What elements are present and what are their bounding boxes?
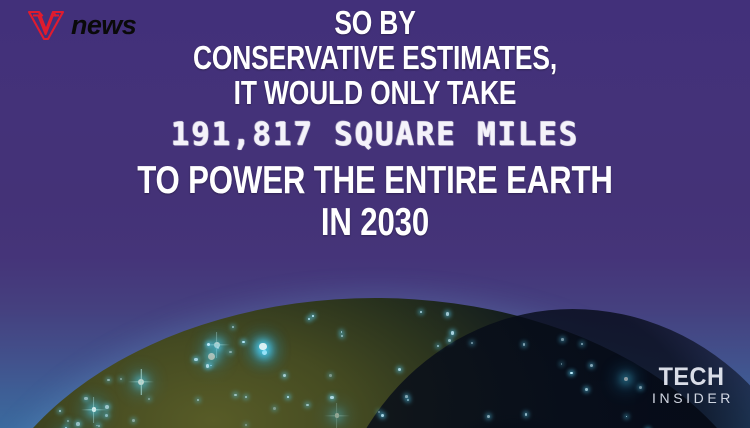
headline-line-5: IN 2030 <box>75 202 675 244</box>
watermark-line-2: INSIDER <box>649 390 734 406</box>
watermark-line-1: TECH <box>652 365 732 389</box>
headline-emphasis-area: 191,817 SQUARE MILES <box>15 114 735 154</box>
headline-line-4: TO POWER THE ENTIRE EARTH <box>75 160 675 202</box>
headline-line-3: IT WOULD ONLY TAKE <box>75 75 675 110</box>
v-logo-icon <box>26 8 66 42</box>
earth-globe <box>0 298 750 428</box>
tech-insider-watermark: TECH INSIDER <box>649 365 734 406</box>
brand-wordmark: news <box>71 12 136 39</box>
infographic-canvas: news SO BY CONSERVATIVE ESTIMATES, IT WO… <box>0 0 750 428</box>
headline-line-2: CONSERVATIVE ESTIMATES, <box>75 40 675 75</box>
headline-line-1: SO BY <box>75 6 675 40</box>
brand-logo[interactable]: news <box>26 8 136 42</box>
